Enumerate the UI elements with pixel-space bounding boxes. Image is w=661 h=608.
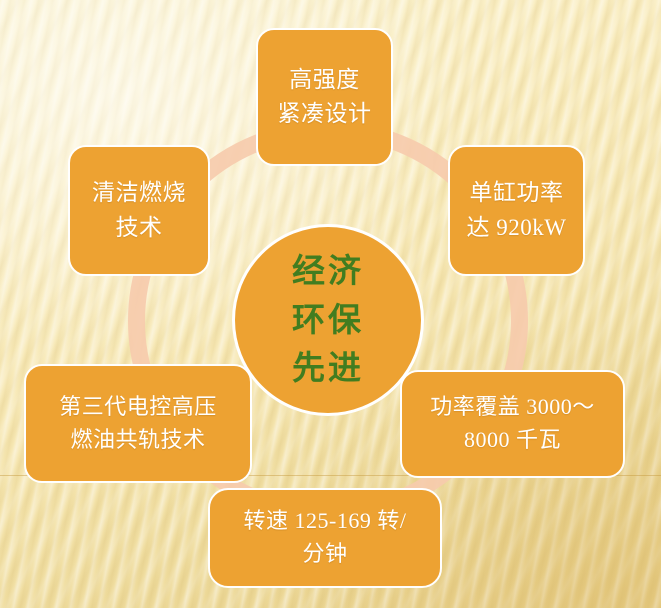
node-right-line1: 单缸功率 [470,180,564,205]
node-left-line2: 技术 [116,215,163,240]
node-top-line1: 高强度 [289,67,360,92]
node-bottom-left-line1: 第三代电控高压 [59,394,217,419]
node-bottom-line2: 分钟 [302,541,347,566]
node-third-gen-common-rail[interactable]: 第三代电控高压 燃油共轨技术 [24,364,252,483]
node-bottom-line1: 转速 125-169 转/ [244,508,407,533]
hub-line1: 经济 [292,247,364,296]
node-left-line1: 清洁燃烧 [92,180,186,205]
node-high-strength-compact-design[interactable]: 高强度 紧凑设计 [256,28,393,166]
node-bottom-right-line2: 8000 千瓦 [464,427,561,452]
node-right-line2: 达 920kW [467,215,567,240]
node-single-cylinder-power[interactable]: 单缸功率 达 920kW [448,145,585,276]
node-power-coverage-range[interactable]: 功率覆盖 3000～ 8000 千瓦 [400,370,625,478]
hub-line3: 先进 [292,344,364,393]
hub-line2: 环保 [292,296,364,345]
node-clean-combustion-technology[interactable]: 清洁燃烧 技术 [68,145,210,276]
node-rotation-speed[interactable]: 转速 125-169 转/ 分钟 [208,488,442,588]
node-top-line2: 紧凑设计 [278,101,372,126]
slide-canvas: 高强度 紧凑设计 清洁燃烧 技术 单缸功率 达 920kW 第三代电控高压 燃油… [0,0,661,608]
center-hub-circle[interactable]: 经济 环保 先进 [232,224,424,416]
node-bottom-right-line1: 功率覆盖 3000～ [430,394,595,419]
node-bottom-left-line2: 燃油共轨技术 [70,427,205,452]
